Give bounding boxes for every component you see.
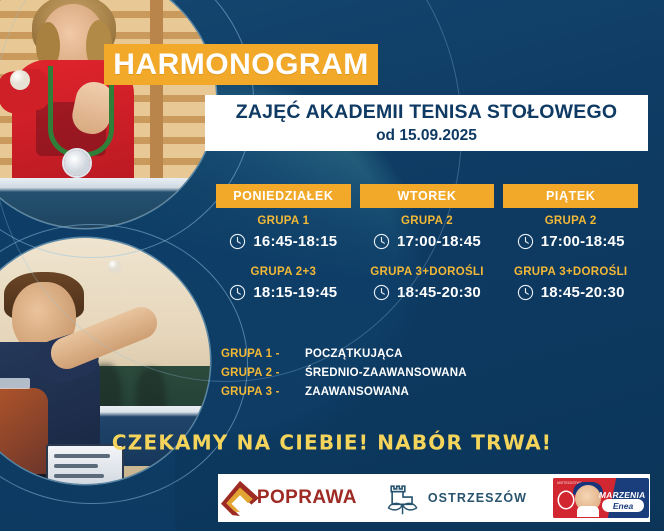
clock-icon	[373, 233, 390, 250]
time-label: 16:45-18:15	[253, 233, 337, 250]
harmonogram-badge: HARMONOGRAM	[104, 44, 378, 85]
call-to-action: CZEKAMY NA CIEBIE! NABÓR TRWA!	[0, 430, 664, 455]
enea-brand-label: Enea	[613, 501, 633, 511]
poster: HARMONOGRAM ZAJĘĆ AKADEMII TENISA STOŁOW…	[0, 0, 664, 531]
time-label: 17:00-18:45	[541, 233, 625, 250]
time-row: 18:45-20:30	[517, 284, 625, 301]
enea-marzenia-logo[interactable]: MISTRZOSTWA MARZENIA Enea	[553, 478, 649, 518]
schedule-column-friday: GRUPA 2 17:00-18:45 GRUPA 3+DOROŚLI	[503, 215, 638, 317]
schedule-slot: GRUPA 1 16:45-18:15	[229, 215, 337, 250]
clock-icon	[517, 284, 534, 301]
time-row: 16:45-18:15	[229, 233, 337, 250]
legend-group-name: GRUPA 1 -	[221, 348, 305, 360]
poprawa-wordmark: POPRAWA	[257, 487, 357, 509]
clock-icon	[229, 284, 246, 301]
ostrzeszow-tower-icon	[383, 479, 423, 517]
group-label: GRUPA 2+3	[251, 266, 317, 278]
day-tab-tuesday-label: WTOREK	[398, 189, 457, 203]
group-label: GRUPA 2	[545, 215, 597, 227]
title-box: ZAJĘĆ AKADEMII TENISA STOŁOWEGO od 15.09…	[205, 95, 648, 151]
schedule-slot: GRUPA 3+DOROŚLI 18:45-20:30	[370, 266, 483, 301]
day-tabs: PONIEDZIAŁEK WTOREK PIĄTEK	[216, 184, 638, 208]
paddle-icon	[559, 492, 573, 508]
time-label: 18:45-20:30	[397, 284, 481, 301]
schedule-column-tuesday: GRUPA 2 17:00-18:45 GRUPA 3+DOROŚLI	[360, 215, 495, 317]
time-label: 17:00-18:45	[397, 233, 481, 250]
group-label: GRUPA 2	[401, 215, 453, 227]
legend-group-desc: ZAAWANSOWANA	[305, 386, 409, 398]
day-tab-monday[interactable]: PONIEDZIAŁEK	[216, 184, 351, 208]
harmonogram-label: HARMONOGRAM	[113, 48, 368, 82]
clock-icon	[229, 233, 246, 250]
day-tab-tuesday[interactable]: WTOREK	[360, 184, 495, 208]
group-label: GRUPA 1	[257, 215, 309, 227]
group-label: GRUPA 3+DOROŚLI	[370, 266, 483, 278]
legend-group-name: GRUPA 2 -	[221, 367, 305, 379]
enea-brand-pill: Enea	[602, 499, 644, 512]
schedule-slot: GRUPA 2 17:00-18:45	[373, 215, 481, 250]
time-row: 18:45-20:30	[373, 284, 481, 301]
group-legend: GRUPA 1 - POCZĄTKUJĄCA GRUPA 2 - ŚREDNIO…	[221, 348, 467, 405]
schedule-slot: GRUPA 2 17:00-18:45	[517, 215, 625, 250]
legend-group-desc: POCZĄTKUJĄCA	[305, 348, 403, 360]
start-date: od 15.09.2025	[376, 127, 477, 145]
time-row: 17:00-18:45	[373, 233, 481, 250]
legend-row: GRUPA 3 - ZAAWANSOWANA	[221, 386, 467, 398]
time-row: 18:15-19:45	[229, 284, 337, 301]
legend-group-desc: ŚREDNIO-ZAAWANSOWANA	[305, 367, 467, 379]
schedule-slot: GRUPA 2+3 18:15-19:45	[229, 266, 337, 301]
schedule-column-monday: GRUPA 1 16:45-18:15 GRUPA 2+3 18:15	[216, 215, 351, 317]
sponsor-footer: POPRAWA OSTRZESZÓW MISTRZOSTWA MARZENIA …	[218, 474, 650, 522]
day-tab-friday[interactable]: PIĄTEK	[503, 184, 638, 208]
legend-group-name: GRUPA 3 -	[221, 386, 305, 398]
schedule-slot: GRUPA 3+DOROŚLI 18:45-20:30	[514, 266, 627, 301]
legend-row: GRUPA 2 - ŚREDNIO-ZAAWANSOWANA	[221, 367, 467, 379]
page-title: ZAJĘĆ AKADEMII TENISA STOŁOWEGO	[236, 101, 617, 124]
ostrzeszow-wordmark: OSTRZESZÓW	[428, 491, 527, 505]
time-row: 17:00-18:45	[517, 233, 625, 250]
schedule-grid: GRUPA 1 16:45-18:15 GRUPA 2+3 18:15	[216, 215, 638, 317]
mascot-body	[577, 506, 599, 517]
clock-icon	[517, 233, 534, 250]
time-label: 18:15-19:45	[253, 284, 337, 301]
ostrzeszow-logo[interactable]: OSTRZESZÓW	[383, 479, 527, 517]
poprawa-logo[interactable]: POPRAWA	[219, 479, 357, 517]
day-tab-monday-label: PONIEDZIAŁEK	[233, 189, 333, 203]
poprawa-diamond-icon	[219, 479, 261, 517]
time-label: 18:45-20:30	[541, 284, 625, 301]
group-label: GRUPA 3+DOROŚLI	[514, 266, 627, 278]
clock-icon	[373, 284, 390, 301]
legend-row: GRUPA 1 - POCZĄTKUJĄCA	[221, 348, 467, 360]
day-tab-friday-label: PIĄTEK	[546, 189, 595, 203]
